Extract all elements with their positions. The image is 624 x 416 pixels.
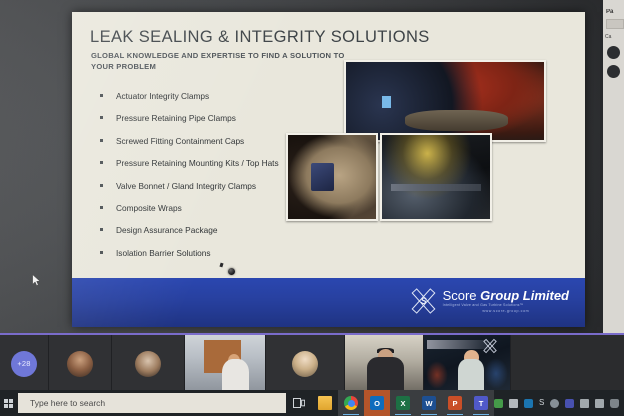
- windows-taskbar[interactable]: Type here to search O X W P T S: [0, 390, 624, 416]
- list-item: Composite Wraps: [94, 203, 309, 213]
- list-item: Isolation Barrier Solutions: [94, 248, 309, 258]
- brand-name-bold: Group Limited: [480, 288, 569, 303]
- file-explorer-icon[interactable]: [312, 390, 338, 416]
- photo-cylinder-detail: [405, 110, 508, 130]
- list-item-label: Actuator Integrity Clamps: [116, 91, 209, 101]
- participant-avatar-1[interactable]: [49, 335, 112, 392]
- avatar: [67, 351, 93, 377]
- overflow-count-badge: +28: [11, 351, 37, 377]
- participant-video-2[interactable]: [345, 335, 424, 392]
- participant-overflow[interactable]: +28: [0, 335, 49, 392]
- list-item: Pressure Retaining Pipe Clamps: [94, 113, 309, 123]
- skype-icon[interactable]: S: [539, 399, 544, 407]
- video-person-body: [222, 359, 249, 392]
- list-item-label: Screwed Fitting Containment Caps: [116, 136, 244, 146]
- background-window-right-edge[interactable]: Pa Ca: [600, 0, 624, 333]
- background-window-field[interactable]: [606, 19, 624, 29]
- avatar: [135, 351, 161, 377]
- score-x-mark-icon: S: [410, 287, 438, 315]
- photo-industrial-red-piping: [344, 60, 546, 142]
- chrome-icon[interactable]: [338, 390, 364, 416]
- bullet-marker-icon: [100, 251, 103, 254]
- bullet-marker-icon: [100, 116, 103, 119]
- system-tray[interactable]: S: [494, 399, 624, 408]
- excel-icon[interactable]: X: [390, 390, 416, 416]
- participant-video-3[interactable]: [424, 335, 511, 392]
- outlook-tray-icon[interactable]: [524, 399, 533, 408]
- background-window-avatar: [607, 46, 620, 59]
- video-person-body: [367, 357, 404, 392]
- bullet-marker-icon: [100, 139, 103, 142]
- video-person-body: [458, 359, 484, 392]
- search-input[interactable]: Type here to search: [18, 393, 286, 413]
- brand-name-light: Score: [443, 288, 481, 303]
- photo-tag-detail: [382, 96, 391, 108]
- powerpoint-icon[interactable]: P: [442, 390, 468, 416]
- bullet-marker-icon: [100, 184, 103, 187]
- list-item-label: Pressure Retaining Pipe Clamps: [116, 113, 236, 123]
- teams-tray-icon[interactable]: [565, 399, 574, 408]
- list-item: Pressure Retaining Mounting Kits / Top H…: [94, 158, 309, 168]
- photo-dark-machinery: [380, 133, 492, 221]
- shield-green-icon[interactable]: [494, 399, 503, 408]
- video-background-glow: [426, 361, 448, 390]
- list-item: Actuator Integrity Clamps: [94, 91, 309, 101]
- presenter-pointer-dot: [228, 268, 235, 275]
- slide-footer-band: S Score Group Limited Intelligent Valve …: [72, 278, 585, 327]
- video-background-logo-icon: [482, 338, 498, 354]
- outlook-icon[interactable]: O: [364, 390, 390, 416]
- list-item: Screwed Fitting Containment Caps: [94, 136, 309, 146]
- logo-letter: S: [421, 296, 427, 306]
- bullet-marker-icon: [100, 161, 103, 164]
- shield-icon[interactable]: [610, 399, 619, 408]
- taskbar-pinned-apps[interactable]: O X W P T: [312, 390, 494, 416]
- usb-icon[interactable]: [580, 399, 589, 408]
- mouse-pointer-icon: [32, 274, 41, 287]
- bullet-marker-icon: [100, 94, 103, 97]
- bullet-marker-icon: [100, 206, 103, 209]
- score-group-logo: S Score Group Limited Intelligent Valve …: [410, 287, 569, 315]
- mail-icon[interactable]: [509, 399, 518, 408]
- list-item: Design Assurance Package: [94, 225, 309, 235]
- video-background-glow: [484, 358, 508, 389]
- video-background-banner: [427, 340, 487, 349]
- photo-clamp-detail: [311, 163, 334, 192]
- photo-beam-detail: [391, 184, 482, 192]
- list-item-label: Valve Bonnet / Gland Integrity Clamps: [116, 181, 256, 191]
- list-item: Valve Bonnet / Gland Integrity Clamps: [94, 181, 309, 191]
- photo-pipe-clamp-installation: [286, 133, 378, 221]
- background-window-title: Pa: [606, 9, 624, 15]
- background-window-avatar: [607, 65, 620, 78]
- teams-icon[interactable]: T: [468, 390, 494, 416]
- windows-icon[interactable]: [0, 390, 16, 416]
- video-call-participant-strip[interactable]: +28: [0, 333, 624, 392]
- moon-icon[interactable]: [550, 399, 559, 408]
- shared-slide[interactable]: LEAK SEALING & INTEGRITY SOLUTIONS GLOBA…: [72, 12, 585, 327]
- list-item-label: Isolation Barrier Solutions: [116, 248, 211, 258]
- participant-avatar-3[interactable]: [266, 335, 345, 392]
- slide-bullet-list: Actuator Integrity Clamps Pressure Retai…: [94, 91, 309, 270]
- list-item-label: Pressure Retaining Mounting Kits / Top H…: [116, 158, 279, 168]
- participant-avatar-2[interactable]: [112, 335, 185, 392]
- word-icon[interactable]: W: [416, 390, 442, 416]
- list-item-label: Design Assurance Package: [116, 225, 217, 235]
- bullet-marker-icon: [100, 228, 103, 231]
- brand-tagline: Intelligent Valve and Gas Turbine Soluti…: [443, 304, 569, 308]
- list-item-label: Composite Wraps: [116, 203, 182, 213]
- background-window-row: Ca: [605, 34, 624, 40]
- participant-video-1[interactable]: [185, 335, 266, 392]
- task-view-icon[interactable]: [286, 390, 312, 416]
- slide-title: LEAK SEALING & INTEGRITY SOLUTIONS: [90, 28, 430, 47]
- avatar: [292, 351, 318, 377]
- slide-subtitle: GLOBAL KNOWLEDGE AND EXPERTISE TO FIND A…: [91, 50, 349, 72]
- network-icon[interactable]: [595, 399, 604, 408]
- brand-website: www.score-group.com: [443, 310, 569, 314]
